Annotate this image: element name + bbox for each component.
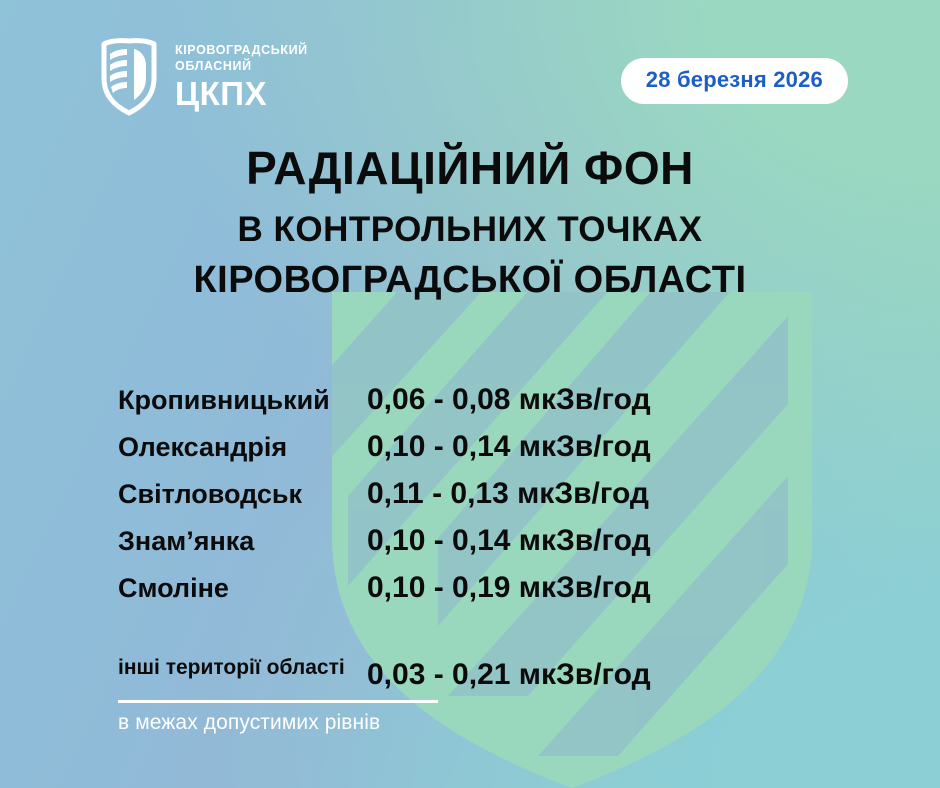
- measurement-location: інші території області: [0, 656, 367, 680]
- measurement-location: Світловодськ: [0, 479, 367, 510]
- logo-abbreviation: ЦКПХ: [175, 77, 308, 110]
- title-line-3: КІРОВОГРАДСЬКОЇ ОБЛАСТІ: [0, 257, 940, 305]
- measurement-row: Олександрія 0,10 - 0,14 мкЗв/год: [0, 430, 940, 477]
- measurement-location: Знам’янка: [0, 526, 367, 557]
- logo-wordmark: КІРОВОГРАДСЬКИЙ ОБЛАСНИЙ ЦКПХ: [175, 44, 308, 110]
- measurements-list: Кропивницький 0,06 - 0,08 мкЗв/год Олекс…: [0, 383, 940, 682]
- footer-note-block: в межах допустимих рівнів: [118, 700, 438, 735]
- measurement-row: Смоліне 0,10 - 0,19 мкЗв/год: [0, 571, 940, 618]
- shield-logo-icon: [96, 38, 162, 116]
- measurement-row: Світловодськ 0,11 - 0,13 мкЗв/год: [0, 477, 940, 524]
- measurement-row: Знам’янка 0,10 - 0,14 мкЗв/год: [0, 524, 940, 571]
- title-line-1: РАДІАЦІЙНИЙ ФОН: [0, 143, 940, 195]
- logo-line-2: ОБЛАСНИЙ: [175, 60, 308, 73]
- date-badge: 28 березня 2026: [621, 58, 848, 104]
- measurement-row: Кропивницький 0,06 - 0,08 мкЗв/год: [0, 383, 940, 430]
- radiation-background-poster: КІРОВОГРАДСЬКИЙ ОБЛАСНИЙ ЦКПХ 28 березня…: [0, 0, 940, 788]
- measurement-location: Смоліне: [0, 573, 367, 604]
- measurement-location: Кропивницький: [0, 385, 367, 416]
- measurement-value: 0,03 - 0,21 мкЗв/год: [367, 658, 651, 692]
- measurement-row-other-territories: інші території області 0,03 - 0,21 мкЗв/…: [0, 648, 940, 682]
- measurement-value: 0,11 - 0,13 мкЗв/год: [367, 477, 649, 511]
- measurement-value: 0,10 - 0,19 мкЗв/год: [367, 571, 651, 605]
- page-title: РАДІАЦІЙНИЙ ФОН В КОНТРОЛЬНИХ ТОЧКАХ КІР…: [0, 143, 940, 305]
- divider: [118, 700, 438, 703]
- measurement-value: 0,10 - 0,14 мкЗв/год: [367, 524, 651, 558]
- title-line-2: В КОНТРОЛЬНИХ ТОЧКАХ: [0, 207, 940, 253]
- footer-note: в межах допустимих рівнів: [118, 711, 438, 735]
- measurement-value: 0,10 - 0,14 мкЗв/год: [367, 430, 651, 464]
- organization-logo: КІРОВОГРАДСЬКИЙ ОБЛАСНИЙ ЦКПХ: [96, 38, 308, 116]
- measurement-location: Олександрія: [0, 432, 367, 463]
- logo-line-1: КІРОВОГРАДСЬКИЙ: [175, 44, 308, 57]
- measurement-value: 0,06 - 0,08 мкЗв/год: [367, 383, 651, 417]
